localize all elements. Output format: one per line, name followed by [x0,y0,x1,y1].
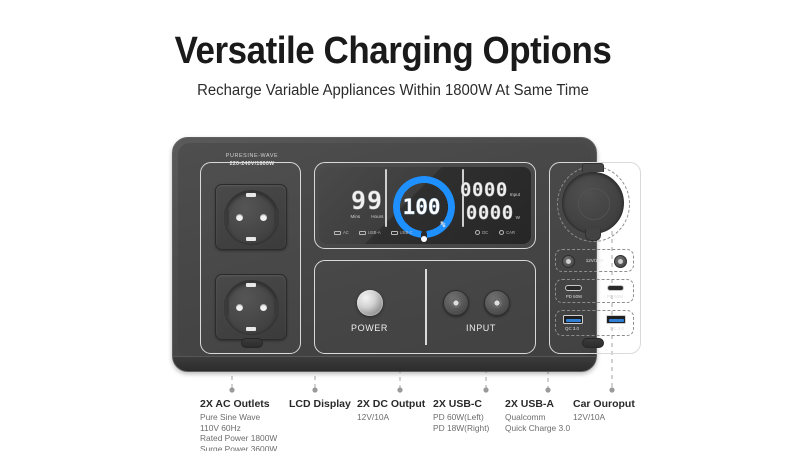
ground-clip-bottom [246,327,256,331]
lcd-unit-mins: Mins [351,214,361,219]
usba-right-label: QC 3.0 [602,326,632,331]
ac-outlet-bottom[interactable] [215,274,287,340]
callout-line: 110V 60Hz [200,423,277,434]
usbc-port-right[interactable] [607,285,624,291]
callout-title: LCD Display [289,398,351,410]
battery-percent-value: 100 [403,195,441,219]
callout-line: Rated Power 1800W [200,433,277,444]
dc-output-group: 12V/10A [555,249,634,272]
socket-notch-right [274,209,279,226]
socket-notch-left [224,299,229,316]
dc-input-jack-1[interactable] [443,290,469,316]
power-button-label: POWER [314,323,425,333]
callout-line: 12V/10A [357,412,425,423]
callout-usba: 2X USB-A Qualcomm Quick Charge 3.0 [505,398,570,433]
brand-voltage-label: 220-240V/1800W [206,161,298,167]
lcd-readout-group: 0000 Input 0000 W [460,181,520,223]
dc-output-rating-label: 12V/10A [556,258,633,263]
brand-wave-label: PURESINE-WAVE [206,153,298,159]
lcd-input-unit: Input [510,192,520,197]
header: Versatile Charging Options Recharge Vari… [0,30,786,100]
lcd-indicator-row-left: AC USB-A USB-C [334,230,413,235]
battery-ring-gauge: 100% [393,176,455,238]
lcd-indicator-row-right: DC CAR [475,230,515,235]
usba-port-left[interactable] [563,315,583,324]
device-foot-right [582,338,604,348]
input-section-label: INPUT [426,323,536,333]
power-station-device: PURESINE-WAVE 220-240V/1800W [172,137,597,372]
ground-clip-bottom [246,237,256,241]
callout-ac-outlets: 2X AC Outlets Pure Sine Wave 110V 60Hz R… [200,398,277,451]
lcd-runtime-group: 99 Mins Hours [345,189,389,219]
lcd-readout-output: 0000 W [460,204,520,223]
socket-pin-right [260,214,267,221]
usbc-indicator-icon: USB-C [391,230,413,235]
callout-line: PD 60W(Left) [433,412,489,423]
callout-line: Quick Charge 3.0 [505,423,570,434]
socket-pin-right [260,304,267,311]
callout-line: PD 18W(Right) [433,423,489,434]
callout-details: 12V/10A [573,412,635,423]
lcd-unit-hours: Hours [371,214,383,219]
usba-port-right[interactable] [606,315,626,324]
car-outlet-cap[interactable] [562,172,624,234]
callout-title: Car Ouroput [573,398,635,410]
usbc-right-label: PD 60W [600,294,630,299]
callout-title: 2X USB-A [505,398,570,410]
car-outlet-cap-hinge [582,163,604,172]
car-indicator-icon: CAR [499,230,515,235]
callout-line: Qualcomm [505,412,570,423]
socket-notch-right [274,299,279,316]
socket-notch-left [224,209,229,226]
ac-outlet-recess [224,190,279,245]
usbc-port-group: PD 60W PD 60W [555,279,634,303]
callout-line: Surge Power 3600W [200,444,277,451]
dc-input-jack-2[interactable] [484,290,510,316]
callout-car-output: Car Ouroput 12V/10A [573,398,635,423]
lcd-runtime-value: 99 [345,189,389,213]
power-button[interactable] [357,290,383,316]
device-foot-left [241,338,263,348]
ground-clip-top [246,283,256,287]
socket-pin-left [236,304,243,311]
input-section: INPUT [426,260,536,354]
callout-details: Qualcomm Quick Charge 3.0 [505,412,570,433]
lcd-output-unit: W [516,215,520,220]
callout-title: 2X USB-C [433,398,489,410]
callout-line: 12V/10A [573,412,635,423]
ac-outlet-recess [224,280,279,335]
usba-left-label: QC 3.0 [557,326,587,331]
ring-indicator-dot [421,236,427,242]
usba-port-group: QC 3.0 QC 3.0 [555,310,634,336]
lcd-display: 99 Mins Hours 100% 0000 Input [319,167,531,244]
callout-details: 12V/10A [357,412,425,423]
usba-indicator-icon: USB-A [359,230,381,235]
socket-pin-left [236,214,243,221]
lcd-readout-input: 0000 Input [460,181,520,200]
lcd-input-value: 0000 [460,181,508,200]
page-title: Versatile Charging Options [31,30,754,73]
device-front-panel: PURESINE-WAVE 220-240V/1800W [178,143,591,357]
ground-clip-top [246,193,256,197]
battery-percent-group: 100% [393,176,455,238]
callout-details: PD 60W(Left) PD 18W(Right) [433,412,489,433]
callout-lcd-display: LCD Display [289,398,351,410]
ac-indicator-icon: AC [334,230,349,235]
lcd-output-value: 0000 [466,204,514,223]
callout-line: Pure Sine Wave [200,412,277,423]
usbc-port-left[interactable] [565,285,582,291]
usbc-left-label: PD 60W [559,294,589,299]
percent-symbol: % [441,220,446,229]
device-base-edge [173,356,596,371]
callout-dc-output: 2X DC Output 12V/10A [357,398,425,423]
dc-indicator-icon: DC [475,230,488,235]
callout-title: 2X DC Output [357,398,425,410]
callout-title: 2X AC Outlets [200,398,277,410]
ac-outlet-top[interactable] [215,184,287,250]
callout-details: Pure Sine Wave 110V 60Hz Rated Power 180… [200,412,277,451]
callout-usbc: 2X USB-C PD 60W(Left) PD 18W(Right) [433,398,489,433]
page-subtitle: Recharge Variable Appliances Within 1800… [16,82,771,100]
power-section: POWER [314,260,425,354]
car-outlet-cap-tab [585,229,601,241]
